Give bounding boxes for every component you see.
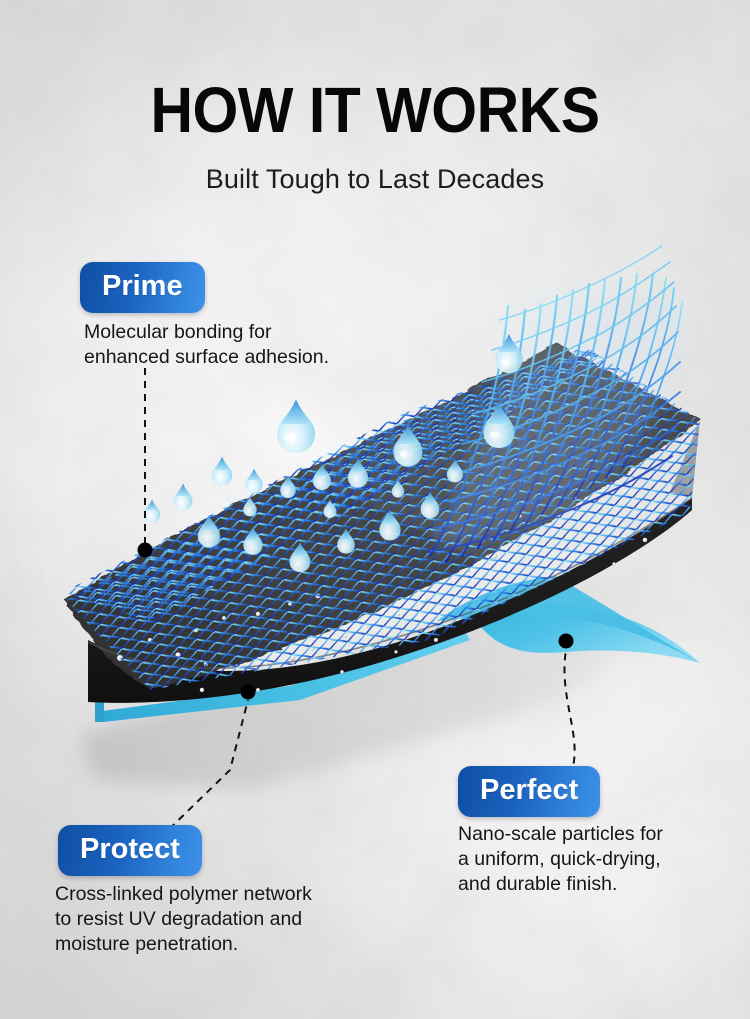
callout-badge-prime[interactable]: Prime [80, 262, 205, 313]
marker-dot-protect [241, 685, 256, 700]
primer-underlayer [95, 626, 470, 722]
callout-text-prime: Molecular bonding for enhanced surface a… [84, 320, 329, 370]
callout-text-perfect: Nano-scale particles for a uniform, quic… [458, 822, 663, 897]
mesh-peeling-edge [428, 246, 690, 562]
marker-dot-prime [138, 543, 153, 558]
page-subtitle: Built Tough to Last Decades [0, 163, 750, 195]
infographic-poster: HOW IT WORKS Built Tough to Last Decades… [0, 0, 750, 1019]
callout-text-protect: Cross-linked polymer network to resist U… [55, 882, 312, 957]
drop-shadow [80, 560, 700, 790]
leader-line-perfect [564, 650, 574, 776]
marker-dot-perfect [559, 634, 574, 649]
page-title: HOW IT WORKS [30, 78, 720, 142]
primer-underlayer-wing [437, 576, 700, 663]
leader-line-protect [160, 700, 248, 838]
callout-badge-perfect[interactable]: Perfect [458, 766, 600, 817]
callout-badge-protect[interactable]: Protect [58, 825, 202, 876]
nano-particles [117, 490, 647, 692]
substrate-slab [64, 344, 700, 703]
